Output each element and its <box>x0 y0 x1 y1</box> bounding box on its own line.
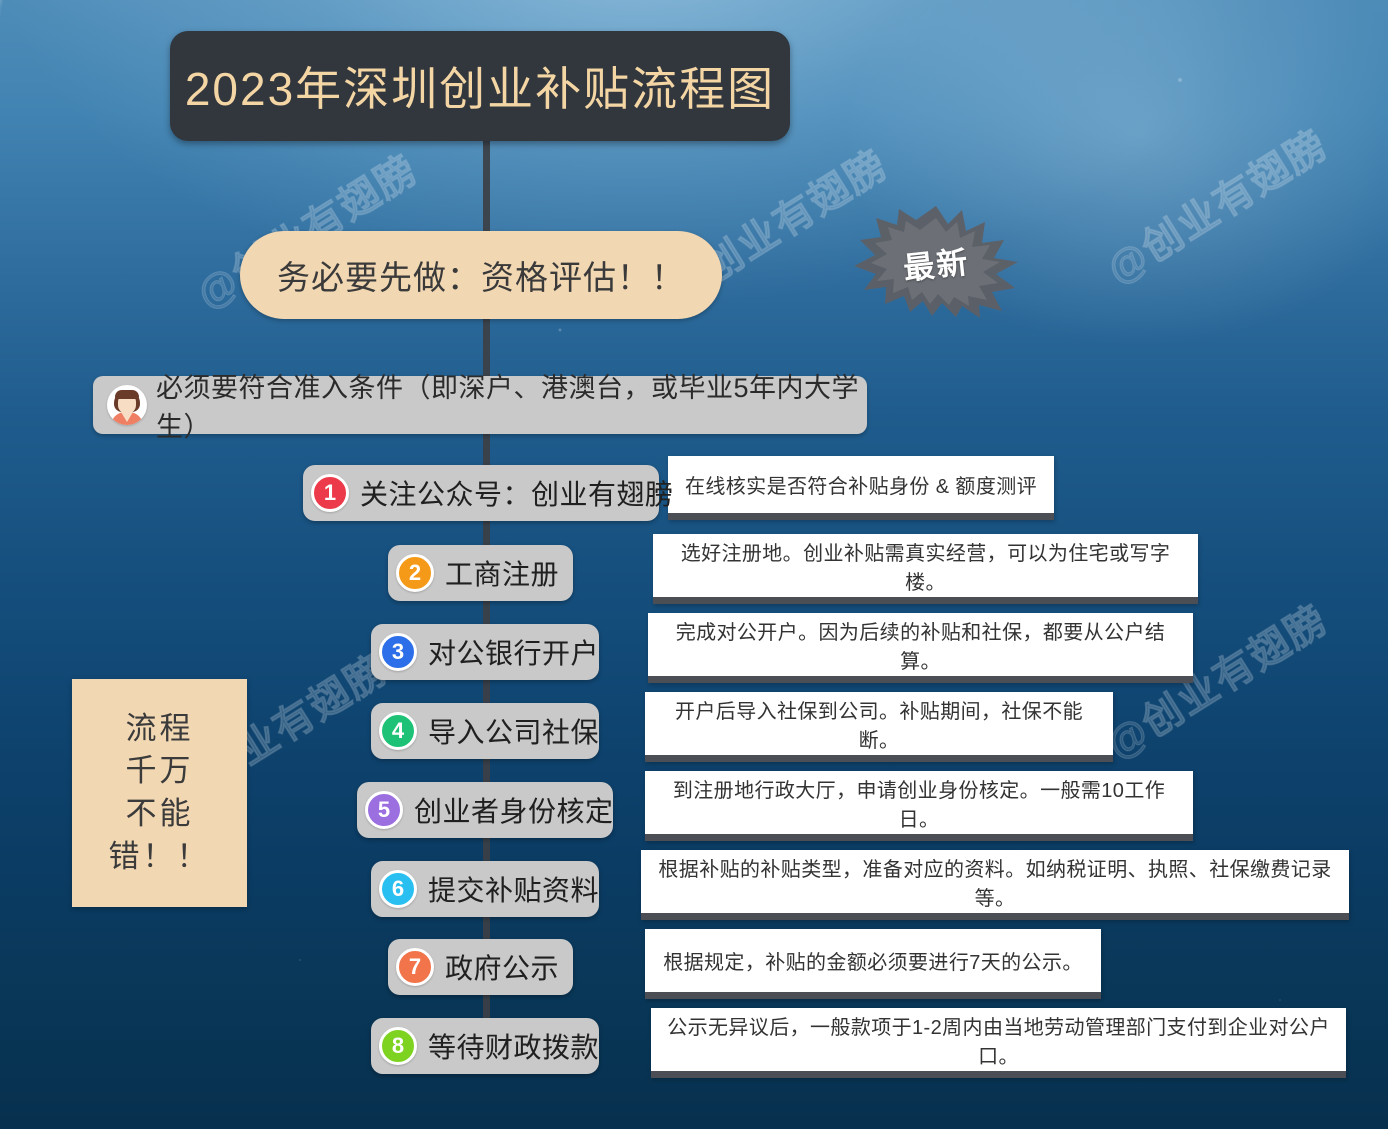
step-description-7: 根据规定，补贴的金额必须要进行7天的公示。 <box>645 929 1101 999</box>
infographic-canvas: @创业有翅膀 @创业有翅膀 @创业有翅膀 @创业有翅膀 @创业有翅膀 2023年… <box>0 0 1388 1129</box>
step-row-4[interactable]: 4 导入公司社保 <box>371 703 599 759</box>
step-number-badge-6: 6 <box>379 870 417 908</box>
step-description-1: 在线核实是否符合补贴身份 & 额度测评 <box>668 456 1054 520</box>
step-label-1: 关注公众号：创业有翅膀 <box>360 473 674 513</box>
step-number-badge-7: 7 <box>396 948 434 986</box>
step-description-text-2: 选好注册地。创业补贴需真实经营，可以为住宅或写字楼。 <box>653 537 1198 595</box>
step-description-text-3: 完成对公开户。因为后续的补贴和社保，都要从公户结算。 <box>648 616 1193 674</box>
page-title-text: 2023年深圳创业补贴流程图 <box>185 53 775 119</box>
step-row-8[interactable]: 8 等待财政拨款 <box>371 1018 599 1074</box>
step-label-5: 创业者身份核定 <box>414 790 614 830</box>
step-description-text-8: 公示无异议后，一般款项于1-2周内由当地劳动管理部门支付到企业对公户口。 <box>651 1011 1346 1069</box>
step-number-badge-4: 4 <box>379 712 417 750</box>
step-number-badge-8: 8 <box>379 1027 417 1065</box>
warning-note-line-2: 千万 <box>126 753 194 790</box>
step-description-6: 根据补贴的补贴类型，准备对应的资料。如纳税证明、执照、社保缴费记录等。 <box>641 850 1349 920</box>
step-number-badge-1: 1 <box>311 474 349 512</box>
watermark: @创业有翅膀 <box>1094 113 1338 295</box>
step-row-2[interactable]: 2 工商注册 <box>388 545 573 601</box>
warning-note-line-4: 错！！ <box>109 839 211 876</box>
warning-note: 流程 千万 不能 错！！ <box>72 679 247 907</box>
step-number-badge-3: 3 <box>379 633 417 671</box>
step-description-text-5: 到注册地行政大厅，申请创业身份核定。一般需10工作日。 <box>645 774 1193 832</box>
step-label-8: 等待财政拨款 <box>428 1026 599 1066</box>
step-label-4: 导入公司社保 <box>428 711 599 751</box>
step-description-text-6: 根据补贴的补贴类型，准备对应的资料。如纳税证明、执照、社保缴费记录等。 <box>641 853 1349 911</box>
new-badge: 最新 <box>852 204 1020 318</box>
step-description-4: 开户后导入社保到公司。补贴期间，社保不能断。 <box>645 692 1113 762</box>
step-description-2: 选好注册地。创业补贴需真实经营，可以为住宅或写字楼。 <box>653 534 1198 604</box>
step-row-3[interactable]: 3 对公银行开户 <box>371 624 599 680</box>
step-description-text-4: 开户后导入社保到公司。补贴期间，社保不能断。 <box>645 695 1113 753</box>
step-row-6[interactable]: 6 提交补贴资料 <box>371 861 599 917</box>
step-row-7[interactable]: 7 政府公示 <box>388 939 573 995</box>
prerequisite-text: 务必要先做：资格评估！！ <box>277 251 685 299</box>
warning-note-line-3: 不能 <box>126 796 194 833</box>
step-number-badge-2: 2 <box>396 554 434 592</box>
page-title: 2023年深圳创业补贴流程图 <box>170 31 790 141</box>
step-label-7: 政府公示 <box>445 947 559 987</box>
person-avatar-icon <box>107 385 147 425</box>
step-label-3: 对公银行开户 <box>428 632 599 672</box>
requirement-text: 必须要符合准入条件（即深户、港澳台，或毕业5年内大学生） <box>156 366 867 444</box>
prerequisite-banner: 务必要先做：资格评估！！ <box>240 231 722 319</box>
step-row-1[interactable]: 1 关注公众号：创业有翅膀 <box>303 465 659 521</box>
step-description-5: 到注册地行政大厅，申请创业身份核定。一般需10工作日。 <box>645 771 1193 841</box>
step-description-8: 公示无异议后，一般款项于1-2周内由当地劳动管理部门支付到企业对公户口。 <box>651 1008 1346 1078</box>
starburst-icon <box>852 204 1020 318</box>
step-description-text-7: 根据规定，补贴的金额必须要进行7天的公示。 <box>645 946 1101 975</box>
step-label-6: 提交补贴资料 <box>428 869 599 909</box>
step-number-badge-5: 5 <box>365 791 403 829</box>
warning-note-line-1: 流程 <box>126 711 194 748</box>
step-description-text-1: 在线核实是否符合补贴身份 & 额度测评 <box>668 470 1054 499</box>
requirement-banner: 必须要符合准入条件（即深户、港澳台，或毕业5年内大学生） <box>93 376 867 434</box>
step-label-2: 工商注册 <box>445 553 559 593</box>
step-row-5[interactable]: 5 创业者身份核定 <box>357 782 613 838</box>
step-description-3: 完成对公开户。因为后续的补贴和社保，都要从公户结算。 <box>648 613 1193 683</box>
